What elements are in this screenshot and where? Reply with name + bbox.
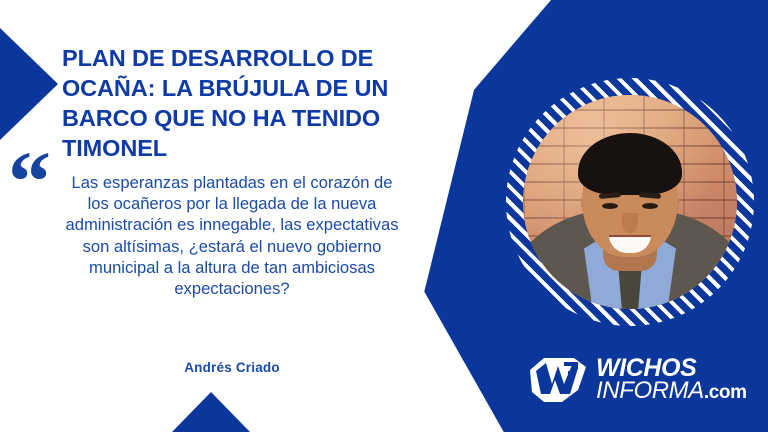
brand-logo: WICHOS INFORMA.com bbox=[528, 356, 747, 404]
wichos-w-monogram-icon bbox=[528, 356, 590, 404]
quote-author: Andrés Criado bbox=[62, 360, 402, 375]
bottom-triangle-decoration bbox=[172, 392, 250, 432]
left-triangle-decoration bbox=[0, 28, 58, 140]
brand-name-secondary: INFORMA.com bbox=[596, 380, 747, 403]
nose bbox=[622, 213, 638, 233]
page-title: PLAN DE DESARROLLO DE OCAÑA: LA BRÚJULA … bbox=[62, 44, 407, 163]
brand-name-secondary-text: INFORMA bbox=[596, 377, 704, 404]
eye-right bbox=[642, 203, 658, 209]
avatar bbox=[506, 78, 754, 326]
brand-domain-suffix: .com bbox=[704, 382, 747, 403]
eye-left bbox=[602, 203, 618, 209]
quote-text: Las esperanzas plantadas en el corazón d… bbox=[62, 172, 402, 299]
quote-card-graphic: PLAN DE DESARROLLO DE OCAÑA: LA BRÚJULA … bbox=[0, 0, 768, 432]
open-quote-icon: “ bbox=[8, 138, 51, 224]
portrait-photo bbox=[523, 95, 737, 309]
brand-wordmark: WICHOS INFORMA.com bbox=[596, 357, 747, 403]
